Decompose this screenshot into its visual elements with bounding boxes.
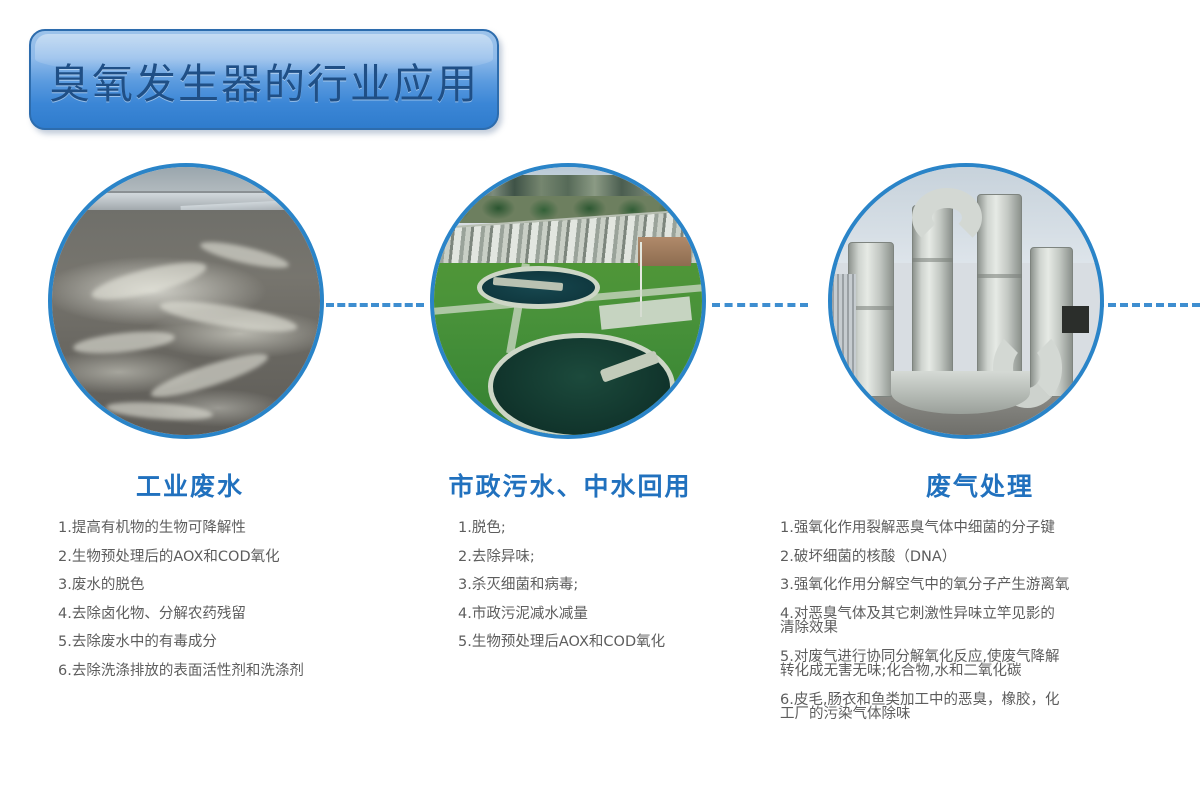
list-item: 2.生物预处理后的AOX和COD氧化 [58,550,360,565]
list-item: 6.去除洗涤排放的表面活性剂和洗涤剂 [58,664,360,679]
list-item: 4.对恶臭气体及其它刺激性异味立竿见影的 清除效果 [780,607,1180,636]
column-industrial-wastewater: 工业废水 1.提高有机物的生物可降解性 2.生物预处理后的AOX和COD氧化 3… [20,163,360,692]
photo-exhaust-gas [828,163,1104,439]
list-item: 4.去除卤化物、分解农药残留 [58,607,360,622]
heading-exhaust-gas: 废气处理 [780,467,1180,503]
list-exhaust-gas: 1.强氧化作用裂解恶臭气体中细菌的分子键 2.破坏细菌的核酸（DNA） 3.强氧… [780,521,1180,722]
list-item: 3.强氧化作用分解空气中的氧分子产生游离氧 [780,578,1180,593]
list-item: 4.市政污泥减水减量 [458,607,740,622]
list-municipal-sewage: 1.脱色; 2.去除异味; 3.杀灭细菌和病毒; 4.市政污泥减水减量 5.生物… [458,521,740,650]
photo-municipal-sewage [430,163,706,439]
list-item: 2.去除异味; [458,550,740,565]
list-item: 3.杀灭细菌和病毒; [458,578,740,593]
list-item: 6.皮毛,肠衣和鱼类加工中的恶臭，橡胶，化 工厂的污染气体除味 [780,693,1180,722]
list-item: 1.提高有机物的生物可降解性 [58,521,360,536]
column-municipal-sewage: 市政污水、中水回用 1.脱色; 2.去除异味; 3.杀灭细菌和病毒; 4.市政污… [400,163,740,664]
list-item: 1.脱色; [458,521,740,536]
heading-municipal-sewage: 市政污水、中水回用 [400,467,740,503]
list-item: 5.生物预处理后AOX和COD氧化 [458,635,740,650]
list-item: 3.废水的脱色 [58,578,360,593]
column-exhaust-gas: 废气处理 1.强氧化作用裂解恶臭气体中细菌的分子键 2.破坏细菌的核酸（DNA）… [780,163,1180,736]
list-industrial-wastewater: 1.提高有机物的生物可降解性 2.生物预处理后的AOX和COD氧化 3.废水的脱… [58,521,360,678]
list-item: 5.去除废水中的有毒成分 [58,635,360,650]
list-item: 1.强氧化作用裂解恶臭气体中细菌的分子键 [780,521,1180,536]
heading-industrial-wastewater: 工业废水 [20,467,360,503]
industrial-wastewater-illustration [52,167,320,435]
municipal-plant-illustration [434,167,702,435]
exhaust-duct-illustration [832,167,1100,435]
list-item: 5.对废气进行协同分解氧化反应,使废气降解 转化成无害无味;化合物,水和二氧化碳 [780,650,1180,679]
page-title-banner: 臭氧发生器的行业应用 [29,29,499,130]
list-item: 2.破坏细菌的核酸（DNA） [780,550,1180,565]
page-title: 臭氧发生器的行业应用 [49,50,479,110]
photo-industrial-wastewater [48,163,324,439]
